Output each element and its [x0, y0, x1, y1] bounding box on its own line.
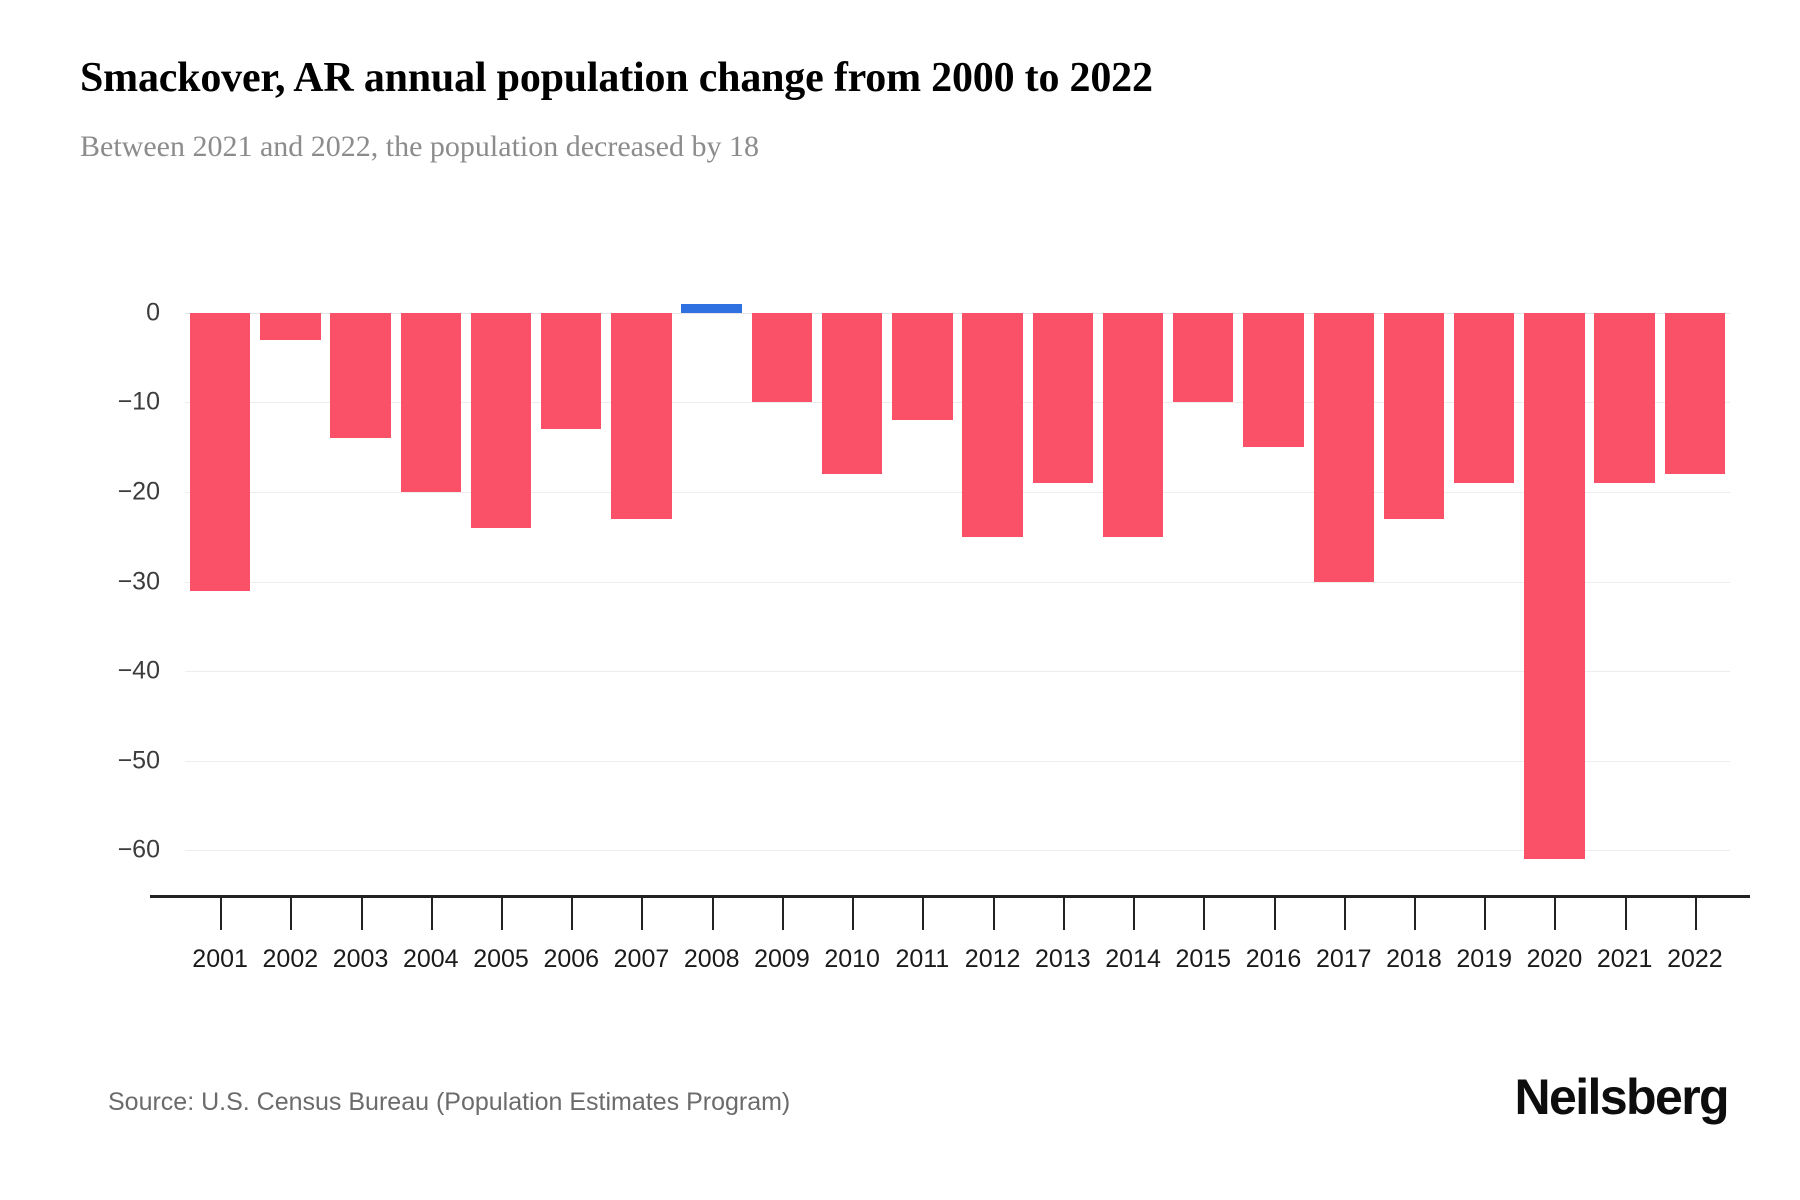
y-axis-tick-label: 0	[40, 298, 160, 327]
bar[interactable]	[1033, 313, 1093, 483]
bar-slot	[747, 295, 817, 895]
x-axis-tick	[431, 898, 433, 930]
x-axis-tick	[361, 898, 363, 930]
bar-slot	[1519, 295, 1589, 895]
x-axis-tick-label: 2018	[1386, 945, 1442, 974]
bar[interactable]	[752, 313, 812, 403]
x-axis-tick	[1484, 898, 1486, 930]
x-axis-tick-label: 2021	[1597, 945, 1653, 974]
bar[interactable]	[471, 313, 531, 528]
bar-slot	[1098, 295, 1168, 895]
x-axis-tick	[1344, 898, 1346, 930]
x-axis-tick-label: 2022	[1667, 945, 1723, 974]
bar-slot	[1309, 295, 1379, 895]
bar-slot	[677, 295, 747, 895]
bar[interactable]	[1454, 313, 1514, 483]
bar[interactable]	[611, 313, 671, 519]
x-axis-tick	[501, 898, 503, 930]
x-axis-tick	[1203, 898, 1205, 930]
y-axis-tick-label: −60	[40, 836, 160, 865]
plot-area	[185, 295, 1730, 895]
bar[interactable]	[892, 313, 952, 420]
x-axis-tick-label: 2004	[403, 945, 459, 974]
x-axis-tick	[993, 898, 995, 930]
bar-slot	[1660, 295, 1730, 895]
x-axis-tick-label: 2012	[965, 945, 1021, 974]
bar[interactable]	[190, 313, 250, 591]
x-axis-tick	[1695, 898, 1697, 930]
x-axis-tick-label: 2014	[1105, 945, 1161, 974]
source-note: Source: U.S. Census Bureau (Population E…	[108, 1088, 790, 1117]
x-axis-tick-label: 2001	[192, 945, 248, 974]
bar-slot	[396, 295, 466, 895]
bar[interactable]	[822, 313, 882, 474]
brand-logo: Neilsberg	[1515, 1068, 1728, 1126]
x-axis-tick	[1625, 898, 1627, 930]
x-axis-tick	[220, 898, 222, 930]
y-axis-tick-label: −40	[40, 657, 160, 686]
bar[interactable]	[1173, 313, 1233, 403]
x-axis-tick	[290, 898, 292, 930]
x-axis-tick	[852, 898, 854, 930]
bar-slot	[1590, 295, 1660, 895]
x-axis-tick	[712, 898, 714, 930]
bar[interactable]	[260, 313, 320, 340]
bar[interactable]	[401, 313, 461, 492]
page-title: Smackover, AR annual population change f…	[80, 52, 1153, 104]
x-axis-tick-label: 2008	[684, 945, 740, 974]
y-axis-tick-label: −30	[40, 567, 160, 596]
bar-slot	[817, 295, 887, 895]
x-axis-tick-label: 2006	[543, 945, 599, 974]
x-axis-tick-label: 2015	[1175, 945, 1231, 974]
x-axis-line	[150, 895, 1750, 898]
x-axis-tick-label: 2003	[333, 945, 389, 974]
x-axis-tick	[1274, 898, 1276, 930]
bar-slot	[466, 295, 536, 895]
y-axis-tick-label: −10	[40, 388, 160, 417]
x-axis-tick-label: 2017	[1316, 945, 1372, 974]
x-axis-tick-label: 2009	[754, 945, 810, 974]
chart-page: Smackover, AR annual population change f…	[0, 0, 1800, 1200]
bar-slot	[185, 295, 255, 895]
x-axis-tick	[1133, 898, 1135, 930]
bar[interactable]	[1665, 313, 1725, 474]
bar-slot	[958, 295, 1028, 895]
bar[interactable]	[541, 313, 601, 429]
x-axis-tick-label: 2016	[1246, 945, 1302, 974]
x-axis-tick	[1414, 898, 1416, 930]
x-axis-tick	[571, 898, 573, 930]
bar[interactable]	[1103, 313, 1163, 537]
bar-slot	[255, 295, 325, 895]
chart-subtitle: Between 2021 and 2022, the population de…	[80, 128, 759, 166]
x-axis-tick-label: 2007	[614, 945, 670, 974]
bar-slot	[1238, 295, 1308, 895]
x-axis-tick-label: 2005	[473, 945, 529, 974]
bar-slot	[1379, 295, 1449, 895]
x-axis-tick-label: 2013	[1035, 945, 1091, 974]
bar-slot	[606, 295, 676, 895]
x-axis-tick-label: 2019	[1456, 945, 1512, 974]
x-axis-tick	[922, 898, 924, 930]
bar[interactable]	[330, 313, 390, 438]
bar[interactable]	[1524, 313, 1584, 859]
x-axis-tick	[1554, 898, 1556, 930]
bar[interactable]	[1314, 313, 1374, 582]
bar-slot	[1028, 295, 1098, 895]
x-axis-tick-label: 2010	[824, 945, 880, 974]
bar[interactable]	[1384, 313, 1444, 519]
bar[interactable]	[681, 304, 741, 313]
bar-series	[185, 295, 1730, 895]
y-axis-tick-label: −20	[40, 478, 160, 507]
x-axis-tick	[1063, 898, 1065, 930]
bar-slot	[887, 295, 957, 895]
x-axis-tick	[641, 898, 643, 930]
y-axis-tick-label: −50	[40, 746, 160, 775]
bar[interactable]	[1243, 313, 1303, 447]
bar-slot	[1449, 295, 1519, 895]
bar-slot	[1168, 295, 1238, 895]
x-axis-tick	[782, 898, 784, 930]
bar[interactable]	[1594, 313, 1654, 483]
bar-slot	[536, 295, 606, 895]
x-axis-tick-label: 2002	[263, 945, 319, 974]
x-axis-tick-label: 2011	[895, 945, 949, 974]
x-axis-tick-label: 2020	[1527, 945, 1583, 974]
bar[interactable]	[962, 313, 1022, 537]
bar-slot	[325, 295, 395, 895]
